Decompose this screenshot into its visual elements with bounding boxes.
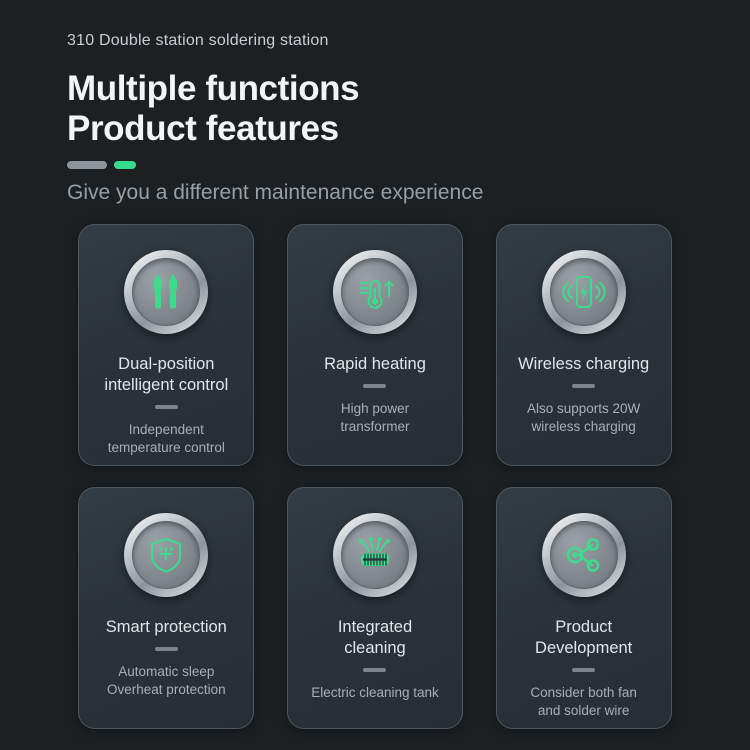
icon-badge [333, 250, 417, 334]
indicator-dot-active [114, 161, 136, 169]
card-subtitle-line1: Automatic sleep [85, 663, 247, 681]
icon-badge-inner [550, 521, 618, 589]
card-title: Smart protection [79, 617, 253, 638]
card-divider [363, 668, 386, 672]
icon-badge [542, 513, 626, 597]
card-subtitle-line1: Consider both fan [503, 684, 665, 702]
card-title: Product Development [497, 617, 671, 659]
card-divider [155, 405, 178, 409]
feature-page: 310 Double station soldering station Mul… [0, 0, 750, 750]
card-title-line1: Smart protection [85, 617, 247, 638]
product-eyebrow: 310 Double station soldering station [67, 30, 707, 52]
feature-grid: Dual-position intelligent control Indepe… [0, 224, 750, 729]
card-subtitle-line2: temperature control [85, 439, 247, 457]
feature-card-wireless-charging[interactable]: Wireless charging Also supports 20W wire… [496, 224, 672, 466]
icon-badge-inner [341, 258, 409, 326]
card-title-line1: Integrated [294, 617, 456, 638]
card-title-line2: cleaning [294, 638, 456, 659]
card-title-line1: Wireless charging [503, 354, 665, 375]
page-title: Multiple functions Product features [67, 69, 707, 149]
page-title-line2: Product features [67, 109, 707, 149]
card-subtitle: Also supports 20W wireless charging [497, 400, 671, 436]
card-divider [363, 384, 386, 388]
card-subtitle: Independent temperature control [79, 421, 253, 457]
icon-badge [124, 513, 208, 597]
card-subtitle-line2: wireless charging [503, 418, 665, 436]
icon-badge [124, 250, 208, 334]
card-title: Integrated cleaning [288, 617, 462, 659]
card-title-line2: Development [503, 638, 665, 659]
card-divider [572, 668, 595, 672]
card-subtitle-line2: and solder wire [503, 702, 665, 720]
wireless-charging-phone-icon [562, 272, 606, 312]
card-title: Wireless charging [497, 354, 671, 375]
icon-badge-inner [132, 521, 200, 589]
card-title: Dual-position intelligent control [79, 354, 253, 396]
share-nodes-icon [564, 535, 604, 575]
icon-badge-inner [341, 521, 409, 589]
feature-card-product-development[interactable]: Product Development Consider both fan an… [496, 487, 672, 729]
feature-card-dual-position[interactable]: Dual-position intelligent control Indepe… [78, 224, 254, 466]
shield-protection-icon [147, 535, 185, 575]
card-subtitle-line1: High power [294, 400, 456, 418]
card-divider [155, 647, 178, 651]
card-subtitle-line2: Overheat protection [85, 681, 247, 699]
icon-badge-inner [550, 258, 618, 326]
card-title-line1: Product [503, 617, 665, 638]
dual-soldering-tips-icon [147, 272, 185, 312]
card-title-line1: Dual-position [85, 354, 247, 375]
icon-badge [333, 513, 417, 597]
card-subtitle: High power transformer [288, 400, 462, 436]
feature-card-rapid-heating[interactable]: Rapid heating High power transformer [287, 224, 463, 466]
icon-badge-inner [132, 258, 200, 326]
page-header: 310 Double station soldering station Mul… [67, 30, 707, 206]
feature-card-integrated-cleaning[interactable]: Integrated cleaning Electric cleaning ta… [287, 487, 463, 729]
card-title-line2: intelligent control [85, 375, 247, 396]
page-title-line1: Multiple functions [67, 69, 707, 109]
card-title: Rapid heating [288, 354, 462, 375]
progress-indicator [67, 161, 707, 169]
card-subtitle: Consider both fan and solder wire [497, 684, 671, 720]
thermometer-rising-icon [355, 272, 395, 312]
card-subtitle-line1: Independent [85, 421, 247, 439]
cleaning-brush-icon [354, 535, 396, 575]
card-divider [572, 384, 595, 388]
feature-card-smart-protection[interactable]: Smart protection Automatic sleep Overhea… [78, 487, 254, 729]
indicator-bar [67, 161, 107, 169]
icon-badge [542, 250, 626, 334]
card-subtitle: Automatic sleep Overheat protection [79, 663, 253, 699]
card-subtitle-line2: transformer [294, 418, 456, 436]
card-title-line1: Rapid heating [294, 354, 456, 375]
card-subtitle-line1: Also supports 20W [503, 400, 665, 418]
page-subtitle: Give you a different maintenance experie… [67, 180, 707, 206]
card-subtitle: Electric cleaning tank [288, 684, 462, 702]
card-subtitle-line1: Electric cleaning tank [294, 684, 456, 702]
